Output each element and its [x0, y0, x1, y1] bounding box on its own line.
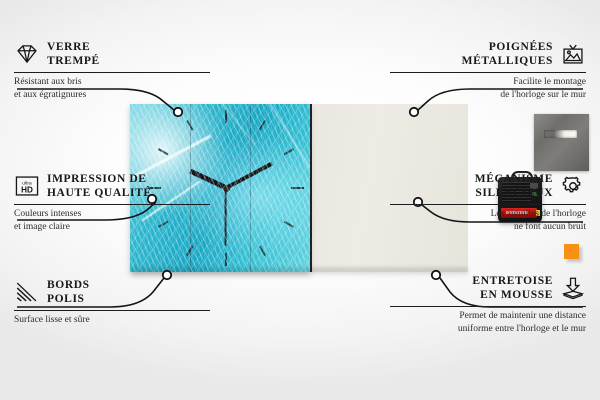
- callout-title-line2: POLIS: [47, 293, 85, 305]
- hanger-slot: [544, 130, 577, 138]
- callout-title-line1: VERRE: [47, 41, 90, 53]
- callout-rule: [14, 204, 210, 205]
- diagonal-lines-icon: [14, 280, 40, 304]
- callout-rule: [390, 204, 586, 205]
- callout-desc-line1: Résistant aux bris: [14, 77, 82, 87]
- metallic-hanger-plate: [534, 114, 589, 171]
- clock-center-cap: [223, 185, 230, 192]
- callout-mecanisme: MÉCANISME SILENCIEUX Les aiguilles de l'…: [390, 172, 586, 234]
- callout-poignees: POIGNÉES MÉTALLIQUES Facilite le montage…: [390, 40, 586, 102]
- callout-title-line1: MÉCANISME: [475, 173, 553, 185]
- diamond-icon: [14, 42, 40, 66]
- callout-desc-line1: Facilite le montage: [513, 77, 586, 87]
- callout-title-line2: EN MOUSSE: [480, 289, 553, 301]
- callout-title-line2: SILENCIEUX: [475, 187, 553, 199]
- gear-icon: [560, 174, 586, 198]
- callout-title-line2: TREMPÉ: [47, 55, 100, 67]
- callout-title-line2: MÉTALLIQUES: [462, 55, 553, 67]
- feather-streak: [205, 104, 256, 145]
- second-hand: [225, 188, 227, 246]
- callout-desc-line2: et image claire: [14, 222, 70, 232]
- callout-desc-line2: de l'horloge sur le mur: [500, 90, 586, 100]
- feather-streak: [249, 104, 310, 174]
- callout-title-line1: ENTRETOISE: [472, 275, 553, 287]
- callout-desc-line2: et aux égratignures: [14, 90, 86, 100]
- ultra-hd-icon: ultra HD: [14, 174, 40, 198]
- callout-title-line1: POIGNÉES: [489, 41, 553, 53]
- callout-rule: [14, 72, 210, 73]
- callout-entretoise: ENTRETOISE EN MOUSSE Permet de maintenir…: [390, 274, 586, 336]
- svg-text:HD: HD: [21, 186, 33, 195]
- arrow-onto-pad-icon: [560, 276, 586, 300]
- callout-desc-line2: uniforme entre l'horloge et le mur: [458, 324, 586, 334]
- callout-title-line1: IMPRESSION DE: [47, 173, 147, 185]
- callout-rule: [14, 310, 210, 311]
- callout-impression: ultra HD IMPRESSION DE HAUTE QUALITÉ Cou…: [14, 172, 210, 234]
- callout-verre-trempe: VERRE TREMPÉ Résistant aux bris et aux é…: [14, 40, 210, 102]
- framed-picture-icon: [560, 42, 586, 66]
- infographic-stage: VERRE TREMPÉ Résistant aux bris et aux é…: [0, 0, 600, 400]
- callout-desc-line1: Permet de maintenir une distance: [459, 311, 586, 321]
- callout-bords-polis: BORDS POLIS Surface lisse et sûre: [14, 278, 210, 327]
- callout-title-line2: HAUTE QUALITÉ: [47, 187, 152, 199]
- panel-seam: [250, 104, 251, 272]
- callout-desc-line1: Les aiguilles de l'horloge: [491, 209, 586, 219]
- callout-desc-line1: Couleurs intenses: [14, 209, 81, 219]
- callout-rule: [390, 72, 586, 73]
- minute-hand: [225, 162, 273, 190]
- foam-spacer: [564, 244, 579, 259]
- callout-title-line1: BORDS: [47, 279, 90, 291]
- callout-desc-line1: Surface lisse et sûre: [14, 315, 90, 325]
- callout-rule: [390, 306, 586, 307]
- callout-desc-line2: ne font aucun bruit: [514, 222, 586, 232]
